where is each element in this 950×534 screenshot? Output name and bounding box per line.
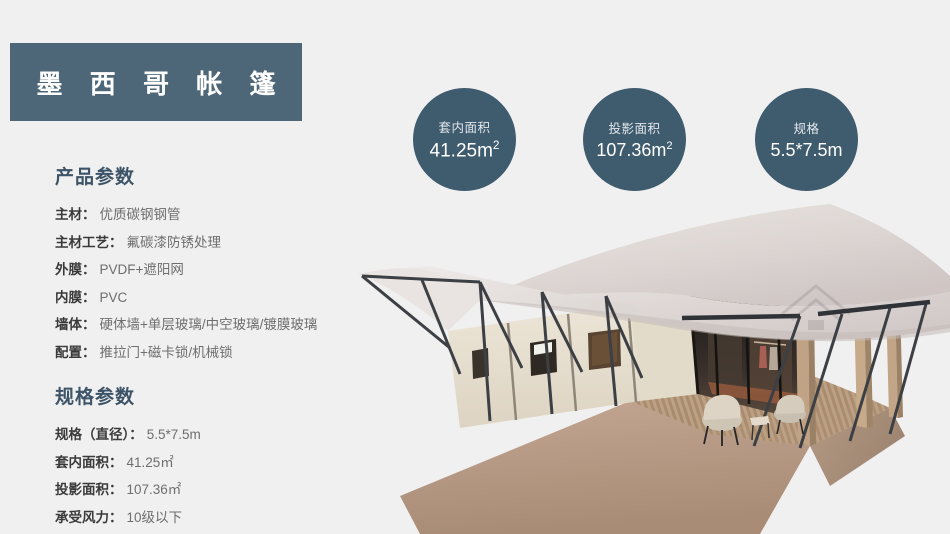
page-title: 墨 西 哥 帐 篷 — [27, 64, 286, 101]
spec-label: 承受风力： — [55, 511, 123, 525]
stat-badge-label: 套内面积 — [438, 117, 490, 136]
stat-badge-label: 规格 — [793, 118, 819, 137]
spec-label: 主材工艺： — [55, 236, 123, 250]
hanging-garment — [759, 346, 767, 368]
ridge-beam — [682, 316, 800, 318]
canopy-roof-top — [480, 204, 950, 306]
spec-label: 套内面积： — [55, 456, 123, 470]
spec-label: 规格（直径）： — [55, 428, 143, 442]
spec-value: 41.25㎡ — [127, 456, 174, 470]
stat-badge-group: 套内面积 41.25m2 投影面积 107.36m2 规格 5.5*7.5m — [413, 88, 863, 192]
spec-value: 107.36㎡ — [127, 483, 182, 497]
stat-value-unit: m — [477, 140, 493, 161]
spec-label: 主材： — [55, 208, 96, 222]
spec-value: PVDF+遮阳网 — [100, 263, 184, 277]
stat-badge-value: 107.36m2 — [596, 140, 672, 161]
spec-value: 氟碳漆防锈处理 — [127, 236, 222, 250]
stat-value-number: 107.36 — [596, 140, 651, 160]
spec-value: 5.5*7.5m — [147, 428, 201, 442]
stat-badge-value: 41.25m2 — [430, 139, 500, 162]
section-heading-product: 产品参数 — [55, 162, 395, 189]
spec-value: 推拉门+磁卡锁/机械锁 — [100, 346, 233, 360]
spec-label: 投影面积： — [55, 483, 123, 497]
page-title-banner: 墨 西 哥 帐 篷 — [10, 43, 302, 121]
stat-value-number: 41.25 — [430, 140, 478, 161]
stat-value-unit: m — [651, 140, 666, 160]
stat-badge-projected-area: 投影面积 107.36m2 — [583, 88, 686, 191]
spec-label: 配置： — [55, 346, 96, 360]
spec-label: 墙体： — [55, 318, 96, 332]
hanging-garment — [769, 347, 778, 370]
tent-render-illustration — [330, 196, 950, 534]
stat-badge-value: 5.5*7.5m — [770, 140, 842, 161]
spec-label: 外膜： — [55, 263, 96, 277]
spec-value: 硬体墙+单层玻璃/中空玻璃/镀膜玻璃 — [100, 318, 318, 332]
spec-label: 内膜： — [55, 291, 96, 305]
stat-value-superscript: 2 — [666, 140, 672, 152]
stat-badge-dimensions: 规格 5.5*7.5m — [755, 88, 858, 191]
spec-value: 优质碳钢钢管 — [100, 208, 181, 222]
stat-badge-label: 投影面积 — [608, 118, 660, 137]
spec-value: 10级以下 — [127, 511, 183, 525]
spec-value: PVC — [100, 291, 128, 305]
stat-value-number: 5.5*7.5m — [770, 140, 842, 160]
stat-value-superscript: 2 — [493, 139, 500, 152]
stat-badge-interior-area: 套内面积 41.25m2 — [413, 88, 516, 191]
product-spec-page: 墨 西 哥 帐 篷 产品参数 主材： 优质碳钢钢管 主材工艺： 氟碳漆防锈处理 … — [0, 0, 950, 534]
